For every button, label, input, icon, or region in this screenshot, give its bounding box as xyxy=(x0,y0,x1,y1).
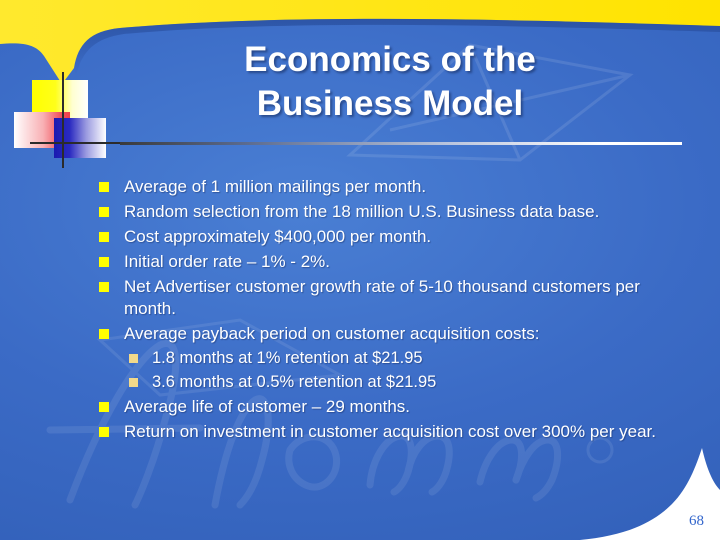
bullet-square-icon xyxy=(99,257,109,267)
list-item: Initial order rate – 1% - 2%. xyxy=(96,251,696,273)
list-item: Return on investment in customer acquisi… xyxy=(96,421,696,443)
title-underline-rule xyxy=(120,142,682,145)
slide-canvas: Economics of the Business Model Average … xyxy=(0,0,720,540)
list-item-label: Return on investment in customer acquisi… xyxy=(124,422,656,441)
bullet-square-icon xyxy=(99,427,109,437)
sub-list-item-label: 1.8 months at 1% retention at $21.95 xyxy=(152,349,423,367)
bullet-square-icon xyxy=(99,282,109,292)
list-item: Average payback period on customer acqui… xyxy=(96,323,696,345)
list-item-label: Random selection from the 18 million U.S… xyxy=(124,202,599,221)
bullet-square-icon xyxy=(99,402,109,412)
bullet-list: Average of 1 million mailings per month.… xyxy=(96,176,696,446)
list-item-label: Average of 1 million mailings per month. xyxy=(124,177,426,196)
list-item-label: Average payback period on customer acqui… xyxy=(124,324,539,343)
crosshair-horizontal-line xyxy=(30,142,128,144)
list-item-label: Cost approximately $400,000 per month. xyxy=(124,227,431,246)
list-item: Random selection from the 18 million U.S… xyxy=(96,201,696,223)
sub-list-item: 3.6 months at 0.5% retention at $21.95 xyxy=(96,372,696,393)
page-title-line-2: Business Model xyxy=(110,82,670,126)
list-item: Net Advertiser customer growth rate of 5… xyxy=(96,276,696,319)
bullet-square-icon xyxy=(99,182,109,192)
list-item: Average of 1 million mailings per month. xyxy=(96,176,696,198)
list-item-label: Net Advertiser customer growth rate of 5… xyxy=(124,277,640,318)
bullet-square-icon xyxy=(99,329,109,339)
page-title-line-1: Economics of the xyxy=(110,38,670,82)
page-number: 68 xyxy=(689,513,704,530)
sub-list-item-label: 3.6 months at 0.5% retention at $21.95 xyxy=(152,373,436,391)
sub-bullet-square-icon xyxy=(129,378,138,387)
list-item-label: Initial order rate – 1% - 2%. xyxy=(124,252,330,271)
list-item: Average life of customer – 29 months. xyxy=(96,396,696,418)
crosshair-vertical-line xyxy=(62,72,64,168)
list-item-label: Average life of customer – 29 months. xyxy=(124,397,410,416)
list-item: Cost approximately $400,000 per month. xyxy=(96,226,696,248)
sub-list-item: 1.8 months at 1% retention at $21.95 xyxy=(96,348,696,369)
bullet-square-icon xyxy=(99,232,109,242)
sub-bullet-square-icon xyxy=(129,354,138,363)
bullet-square-icon xyxy=(99,207,109,217)
page-title: Economics of the Business Model xyxy=(110,38,670,126)
